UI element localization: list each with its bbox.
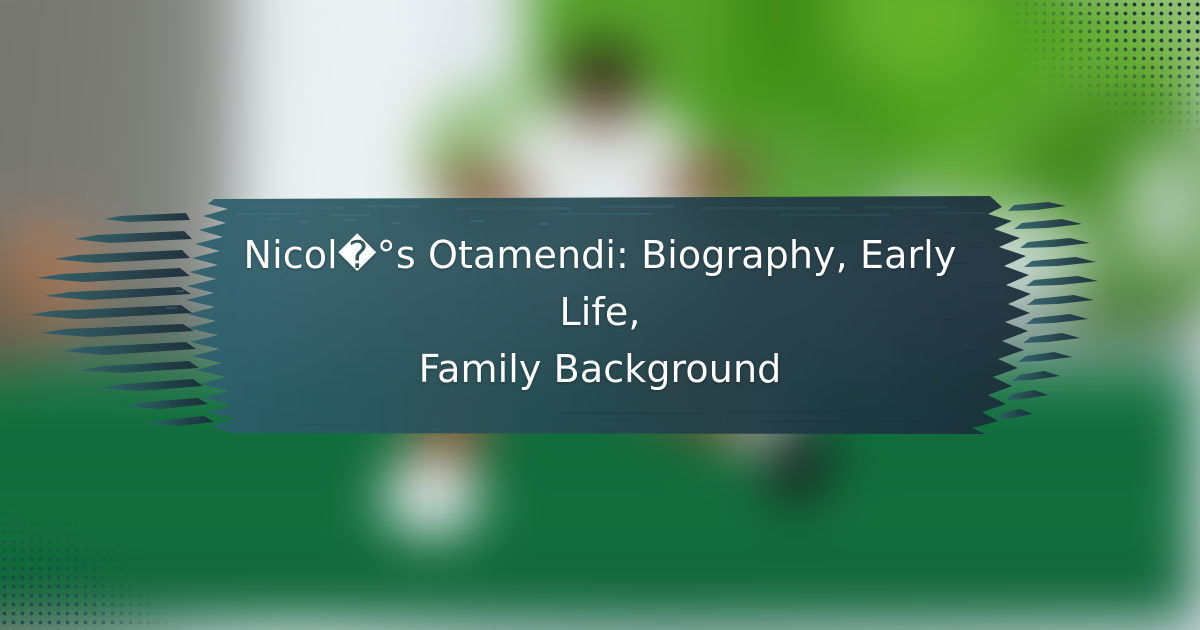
share-card: Nicol�°s Otamendi: Biography, Early Life… [0,0,1200,630]
page-title: Nicol�°s Otamendi: Biography, Early Life… [210,227,990,398]
title-container: Nicol�°s Otamendi: Biography, Early Life… [210,190,990,435]
